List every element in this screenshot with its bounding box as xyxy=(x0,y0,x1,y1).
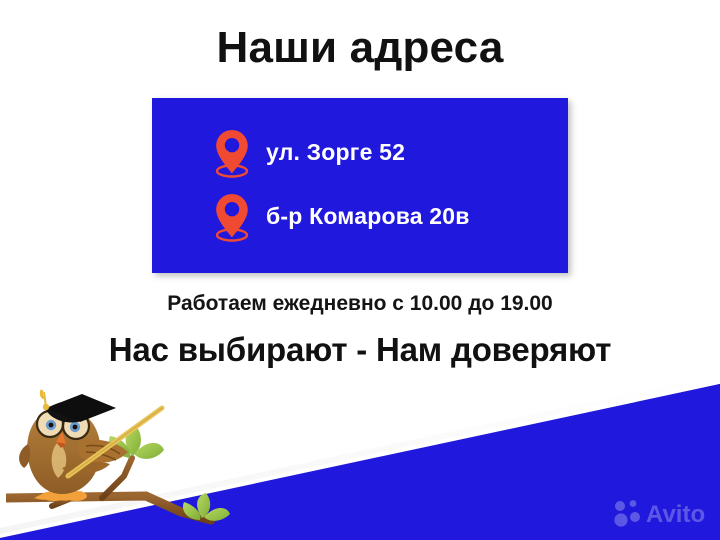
address-label: ул. Зорге 52 xyxy=(266,139,405,166)
avito-wordmark: Avito xyxy=(646,501,705,528)
list-item: б-р Комарова 20в xyxy=(210,188,560,244)
address-label: б-р Комарова 20в xyxy=(266,203,470,230)
avito-dots-icon xyxy=(614,500,640,526)
owl-mascot-illustration xyxy=(6,380,256,540)
location-pin-icon xyxy=(210,190,254,242)
leaf-cluster-icon xyxy=(183,493,230,521)
list-item: ул. Зорге 52 xyxy=(210,124,560,180)
location-pin-icon xyxy=(210,126,254,178)
address-card: ул. Зорге 52 б-р Комарова 20в xyxy=(152,98,568,273)
address-list: ул. Зорге 52 б-р Комарова 20в xyxy=(210,124,560,252)
avito-watermark: Avito xyxy=(612,496,712,530)
page-title: Наши адреса xyxy=(0,22,720,74)
working-hours-text: Работаем ежедневно с 10.00 до 19.00 xyxy=(0,292,720,316)
poster-canvas: Наши адреса ул. Зорге 52 xyxy=(0,0,720,540)
slogan-text: Нас выбирают - Нам доверяют xyxy=(0,331,720,369)
